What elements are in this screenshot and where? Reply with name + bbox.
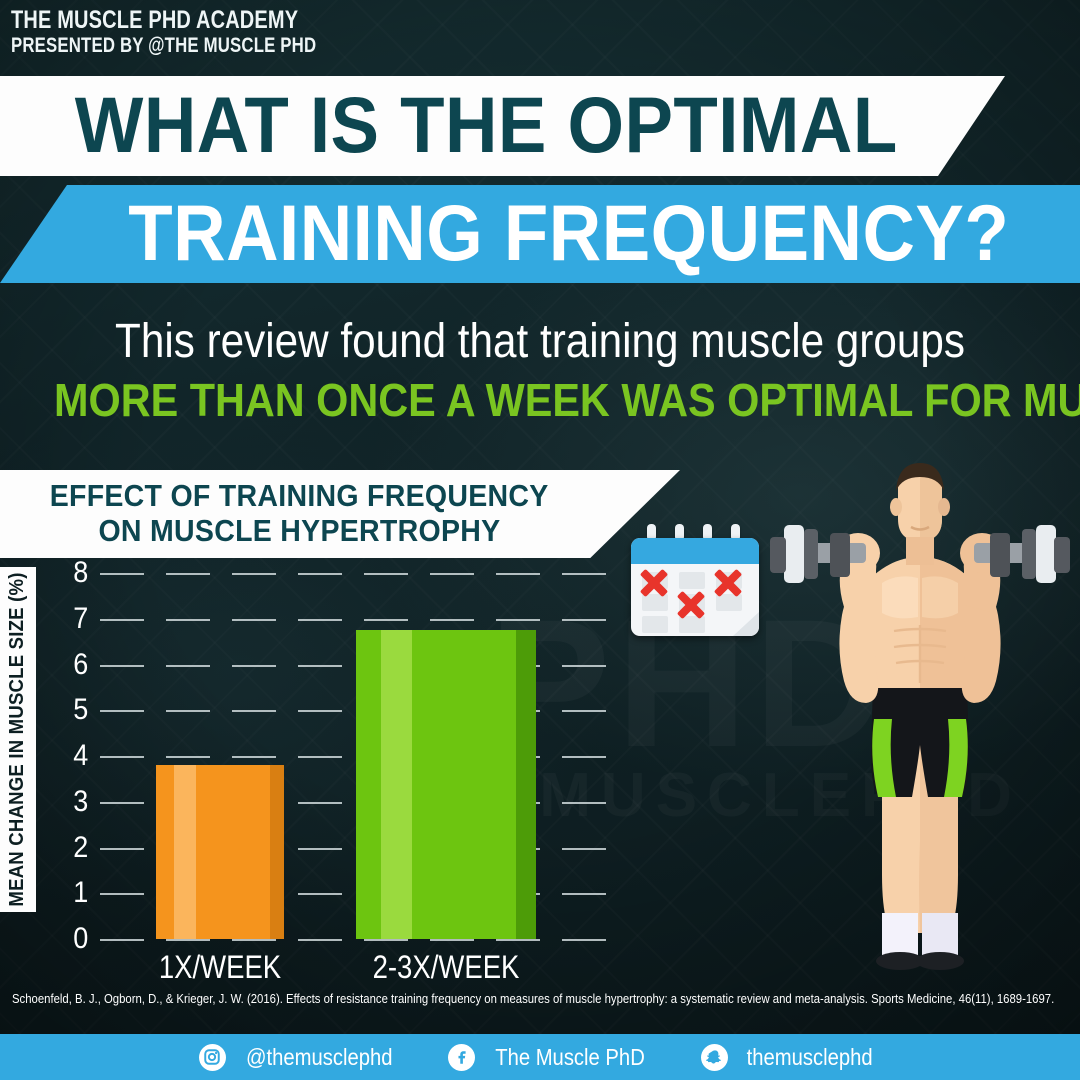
bar-1x-week bbox=[156, 765, 284, 939]
athlete-illustration bbox=[770, 445, 1070, 990]
page-title-line1: WHAT IS THE OPTIMAL bbox=[75, 85, 898, 164]
social-snapchat[interactable]: themusclephd bbox=[701, 1044, 881, 1071]
plot-area: 0123456781X/WEEK2-3X/WEEK bbox=[56, 573, 612, 939]
bar-2-3x-week bbox=[356, 630, 536, 939]
calendar-x-mark bbox=[711, 566, 745, 600]
snapchat-handle: themusclephd bbox=[747, 1046, 873, 1069]
gridline bbox=[100, 939, 612, 941]
x-axis-label-0: 1X/WEEK bbox=[131, 949, 310, 986]
y-axis-tick: 0 bbox=[56, 939, 612, 940]
brand-header: THE MUSCLE PHD ACADEMY PRESENTED BY @THE… bbox=[11, 8, 393, 57]
y-axis-tick: 8 bbox=[56, 573, 612, 574]
subtitle-line2: MORE THAN ONCE A WEEK WAS OPTIMAL FOR MU… bbox=[54, 375, 1026, 427]
chart-title-line1: EFFECT OF TRAINING FREQUENCY bbox=[50, 479, 549, 514]
gridline bbox=[100, 573, 612, 575]
title-banner-blue: TRAINING FREQUENCY? bbox=[0, 185, 1080, 283]
y-axis-tick-label: 0 bbox=[58, 924, 89, 954]
chart-title-line2: ON MUSCLE HYPERTROPHY bbox=[98, 514, 500, 549]
calendar-cell bbox=[679, 572, 705, 589]
chart-title-banner: EFFECT OF TRAINING FREQUENCY ON MUSCLE H… bbox=[0, 470, 680, 558]
y-axis-label: MEAN CHANGE IN MUSCLE SIZE (%) bbox=[7, 572, 30, 906]
calendar-x-mark bbox=[637, 566, 671, 600]
y-axis-tick-label: 8 bbox=[58, 558, 89, 588]
bar-shadow-edge bbox=[516, 630, 536, 939]
social-footer: @themusclephd The Muscle PhD themuscleph… bbox=[0, 1034, 1080, 1080]
y-axis-label-box: MEAN CHANGE IN MUSCLE SIZE (%) bbox=[0, 567, 36, 912]
bar-highlight bbox=[381, 630, 412, 939]
calendar-x-mark bbox=[674, 588, 708, 622]
bar-chart: MEAN CHANGE IN MUSCLE SIZE (%) 012345678… bbox=[0, 555, 620, 985]
social-facebook[interactable]: The Muscle PhD bbox=[448, 1044, 655, 1071]
y-axis-tick-label: 7 bbox=[58, 604, 89, 634]
calendar-page-fold bbox=[733, 612, 759, 636]
bar-shadow-edge bbox=[270, 765, 284, 939]
instagram-handle: @themusclephd bbox=[246, 1046, 393, 1069]
subtitle-line1: This review found that training muscle g… bbox=[65, 316, 1015, 369]
subtitle-block: This review found that training muscle g… bbox=[0, 316, 1080, 426]
gridline bbox=[100, 619, 612, 621]
citation-text: Schoenfeld, B. J., Ogborn, D., & Krieger… bbox=[12, 992, 962, 1006]
y-axis-tick-label: 5 bbox=[58, 695, 89, 725]
calendar-icon bbox=[625, 530, 765, 640]
brand-presented-by: PRESENTED BY @THE MUSCLE PHD bbox=[11, 35, 316, 57]
brand-academy-name: THE MUSCLE PHD ACADEMY bbox=[11, 8, 316, 34]
y-axis-tick-label: 1 bbox=[58, 878, 89, 908]
x-axis-label-1: 2-3X/WEEK bbox=[334, 949, 558, 986]
title-banner-white: WHAT IS THE OPTIMAL bbox=[0, 76, 1005, 176]
social-instagram[interactable]: @themusclephd bbox=[199, 1044, 403, 1071]
y-axis-tick: 7 bbox=[56, 619, 612, 620]
calendar-header bbox=[631, 538, 759, 564]
facebook-icon bbox=[448, 1044, 475, 1071]
y-axis-tick-label: 6 bbox=[58, 650, 89, 680]
bar-highlight bbox=[174, 765, 196, 939]
facebook-name: The Muscle PhD bbox=[495, 1046, 645, 1069]
y-axis-tick-label: 2 bbox=[58, 833, 89, 863]
page-title-line2: TRAINING FREQUENCY? bbox=[129, 193, 1010, 272]
calendar-body bbox=[631, 538, 759, 636]
calendar-cell bbox=[642, 616, 668, 633]
snapchat-icon bbox=[701, 1044, 728, 1071]
instagram-icon bbox=[199, 1044, 226, 1071]
y-axis-tick-label: 3 bbox=[58, 787, 89, 817]
y-axis-tick-label: 4 bbox=[58, 741, 89, 771]
